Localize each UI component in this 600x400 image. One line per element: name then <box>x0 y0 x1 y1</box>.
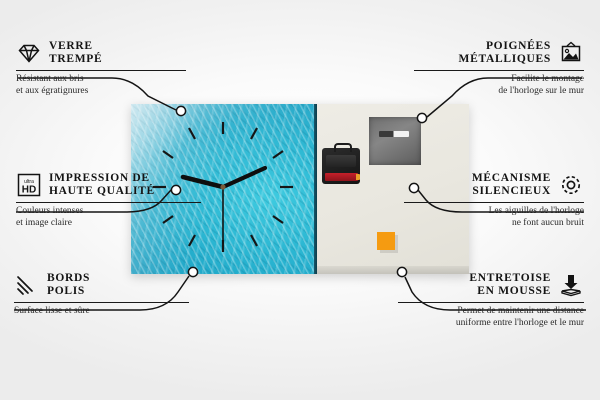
feature-title-line1: VERRE <box>49 40 102 53</box>
feature-divider <box>16 202 201 203</box>
feature-title-line2: SILENCIEUX <box>472 185 551 198</box>
picture-hanger-icon <box>558 40 584 66</box>
feature-subtitle-line1: Surface lisse et sûre <box>14 306 189 318</box>
feature-title-line1: POIGNÉES <box>459 40 551 53</box>
feature-title-line2: EN MOUSSE <box>469 285 551 298</box>
feature-title-line1: BORDS <box>47 272 90 285</box>
feature-title-line1: IMPRESSION DE <box>49 172 155 185</box>
feature-title-line1: ENTRETOISE <box>469 272 551 285</box>
feature-entretoise-en-mousse: ENTRETOISE EN MOUSSE Permet de maintenir… <box>398 272 584 329</box>
feature-subtitle-line2: ne font aucun bruit <box>404 218 584 230</box>
svg-text:HD: HD <box>22 185 36 196</box>
hands-pivot <box>220 184 225 189</box>
feature-subtitle-line1: Couleurs intenses <box>16 206 201 218</box>
mechanism-body <box>326 155 356 167</box>
feature-mecanisme-silencieux: MÉCANISME SILENCIEUX Les aiguilles de l'… <box>404 172 584 229</box>
foam-spacer <box>377 232 395 250</box>
feature-title-line2: POLIS <box>47 285 90 298</box>
feature-divider <box>398 302 584 303</box>
metal-hanger-plate <box>369 117 421 165</box>
gear-icon <box>558 172 584 198</box>
diamond-icon <box>16 40 42 66</box>
feature-title-line2: MÉTALLIQUES <box>459 53 551 66</box>
infographic-canvas: VERRE TREMPÉ Résistant aux bris et aux é… <box>0 0 600 400</box>
battery <box>325 173 358 181</box>
mechanism-hook <box>334 143 352 152</box>
feature-title-line2: HAUTE QUALITÉ <box>49 185 155 198</box>
feature-title-line1: MÉCANISME <box>472 172 551 185</box>
feature-subtitle-line1: Facilite le montage <box>414 74 584 86</box>
foam-spacer-icon <box>558 272 584 298</box>
feature-subtitle-line2: et aux égratignures <box>16 86 186 98</box>
minute-hand <box>223 168 265 187</box>
feature-poignees-metalliques: POIGNÉES MÉTALLIQUES Facilite le montage… <box>414 40 584 97</box>
feature-title-line2: TREMPÉ <box>49 53 102 66</box>
feature-divider <box>16 70 186 71</box>
feature-bords-polis: BORDS POLIS Surface lisse et sûre <box>14 272 189 318</box>
clock-mechanism <box>322 148 360 184</box>
feature-subtitle-line2: et image claire <box>16 218 201 230</box>
hanger-slot <box>379 131 409 137</box>
feature-subtitle-line1: Les aiguilles de l'horloge <box>404 206 584 218</box>
feature-divider <box>404 202 584 203</box>
feature-subtitle-line1: Résistant aux bris <box>16 74 186 86</box>
ultra-hd-icon: ultra HD <box>16 172 42 198</box>
feature-divider <box>14 302 189 303</box>
feature-divider <box>414 70 584 71</box>
polished-edges-icon <box>14 272 40 298</box>
feature-subtitle-line2: de l'horloge sur le mur <box>414 86 584 98</box>
feature-subtitle-line2: uniforme entre l'horloge et le mur <box>398 318 584 330</box>
feature-verre-trempe: VERRE TREMPÉ Résistant aux bris et aux é… <box>16 40 186 97</box>
feature-subtitle-line1: Permet de maintenir une distance <box>398 306 584 318</box>
feature-impression-haute-qualite: ultra HD IMPRESSION DE HAUTE QUALITÉ Cou… <box>16 172 201 229</box>
